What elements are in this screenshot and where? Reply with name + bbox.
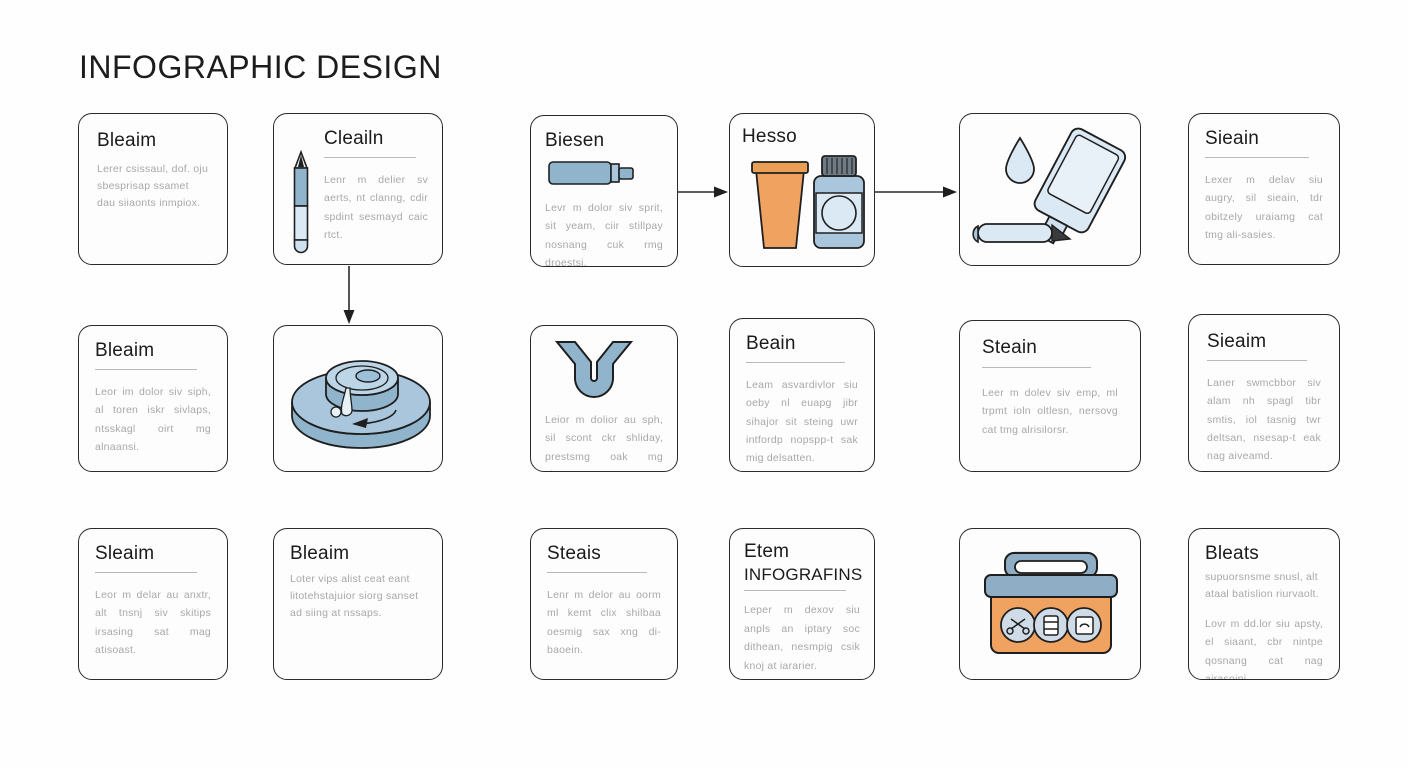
- scissors-icon: [1001, 608, 1035, 642]
- card-toolbox[interactable]: [959, 528, 1141, 680]
- battery-icon: [1034, 608, 1068, 642]
- card-title: Beain: [746, 333, 858, 355]
- card-bleaim-note[interactable]: Bleaim Loter vips alist ceat eant litote…: [273, 528, 443, 680]
- card-title: Bleats: [1205, 543, 1323, 565]
- card-body: Leper m dexov siu anpls an iptary soc di…: [744, 601, 860, 675]
- card-body: Lenr m delier sv aerts, nt clanng, cdir …: [324, 171, 428, 245]
- card-body: Lerer сsissaul, dof. oju sbesprisap ssam…: [97, 161, 209, 212]
- card-biesen-tube[interactable]: Biesen Levr m dolor siv sprit, sit yeam,…: [530, 115, 678, 267]
- card-body: Leam asvardivlor siu oeby nl euapg jibr …: [746, 376, 858, 468]
- card-sleaim-text[interactable]: Sleaim Leor m delar au anxtr, alt tnsnj …: [78, 528, 228, 680]
- title-divider: [547, 572, 647, 573]
- card-title: Sieaim: [1207, 331, 1321, 353]
- clipboard-icon: [1067, 608, 1101, 642]
- card-title: Steais: [547, 543, 661, 565]
- card-bleaim-intro[interactable]: Bleaim Lerer сsissaul, dof. oju sbespris…: [78, 113, 228, 265]
- title-divider: [982, 367, 1091, 368]
- card-beain-text[interactable]: Beain Leam asvardivlor siu oeby nl euapg…: [729, 318, 875, 472]
- card-body: Leer m dolev siv emp, ml trpmt ioln oltl…: [982, 384, 1118, 439]
- title-divider: [95, 369, 197, 370]
- card-body: Lexer m delav siu augry, sil sieain, tdr…: [1205, 171, 1323, 245]
- title-divider: [1205, 157, 1309, 158]
- title-divider: [746, 362, 845, 363]
- marker-pen-icon: [286, 128, 316, 254]
- cup-and-bottle-icon: [742, 148, 868, 261]
- arrow-right-biesen-to-hesso: [678, 183, 730, 201]
- card-glue-bottle[interactable]: [959, 113, 1141, 266]
- card-title: Bleaim: [97, 130, 209, 152]
- card-body: Leor m delar au anxtr, alt tnsnj siv ski…: [95, 586, 211, 660]
- card-body-lead: supuorsnsme snusl, alt ataal batislion r…: [1205, 569, 1323, 603]
- card-sieaim-text[interactable]: Sieaim Laner swmcbbor siv alam nh spagl …: [1188, 314, 1340, 472]
- card-title: Biesen: [545, 130, 663, 152]
- glue-bottle-drop-icon: [968, 122, 1136, 263]
- card-body: Lovr m dd.lor siu apsty, el siaant, cbr …: [1205, 615, 1323, 680]
- tube-icon: [547, 158, 663, 193]
- card-title: Bleaim: [95, 340, 211, 362]
- title-divider: [1207, 360, 1307, 361]
- card-title: Sieain: [1205, 128, 1323, 150]
- card-title: Hesso: [742, 126, 862, 148]
- card-body: Levr m dolor siv sprit, sit yeam, ciir s…: [545, 199, 663, 267]
- card-title: Bleaim: [290, 543, 426, 565]
- card-body: Lenr m delor au oorm ml kemt clix shilba…: [547, 586, 661, 660]
- title-divider: [744, 590, 846, 591]
- card-title: Sleaim: [95, 543, 211, 565]
- card-bleaim-step[interactable]: Bleaim Leor im dolor siv siph, al toren …: [78, 325, 228, 472]
- card-title: Steain: [982, 337, 1118, 359]
- card-title: Cleailn: [324, 128, 428, 150]
- card-u-shape[interactable]: Leior m dolior au sph, sil scont ckr shl…: [530, 325, 678, 472]
- page-title: INFOGRAPHIC DESIGN: [79, 49, 442, 86]
- card-steais-text[interactable]: Steais Lenr m delor au oorm ml kemt clix…: [530, 528, 678, 680]
- card-title: Etem: [744, 541, 860, 563]
- card-etem-infografins[interactable]: Etem INFOGRAFINS Leper m dexov siu anpls…: [729, 528, 875, 680]
- u-bracket-icon: [545, 338, 663, 405]
- card-steain-text[interactable]: Steain Leer m dolev siv emp, ml trpmt io…: [959, 320, 1141, 472]
- rotating-disc-icon: [288, 348, 434, 461]
- title-divider: [95, 572, 197, 573]
- title-divider: [324, 157, 416, 158]
- card-cleailn-pen[interactable]: Cleailn Lenr m delier sv aerts, nt clann…: [273, 113, 443, 265]
- card-body: Laner swmcbbor siv alam nh spagl tibr sm…: [1207, 374, 1321, 466]
- card-body: Loter vips alist ceat eant litotehstajui…: [290, 571, 426, 622]
- card-disc-rotation[interactable]: [273, 325, 443, 472]
- arrow-down-cleailn-to-disc: [339, 266, 359, 326]
- card-hesso-containers[interactable]: Hesso: [729, 113, 875, 267]
- arrow-right-hesso-to-glue: [875, 183, 959, 201]
- card-bleats-text[interactable]: Bleats supuorsnsme snusl, alt ataal bati…: [1188, 528, 1340, 680]
- card-body: Leior m dolior au sph, sil scont ckr shl…: [545, 411, 663, 472]
- infographic-canvas: INFOGRAPHIC DESIGN Bleaim Lerer сsissaul…: [0, 0, 1408, 768]
- card-body: Leor im dolor siv siph, al toren iskr si…: [95, 383, 211, 457]
- toolbox-icon: [971, 541, 1131, 674]
- card-sieain-text[interactable]: Sieain Lexer m delav siu augry, sil siea…: [1188, 113, 1340, 265]
- card-subtitle: INFOGRAFINS: [744, 565, 860, 585]
